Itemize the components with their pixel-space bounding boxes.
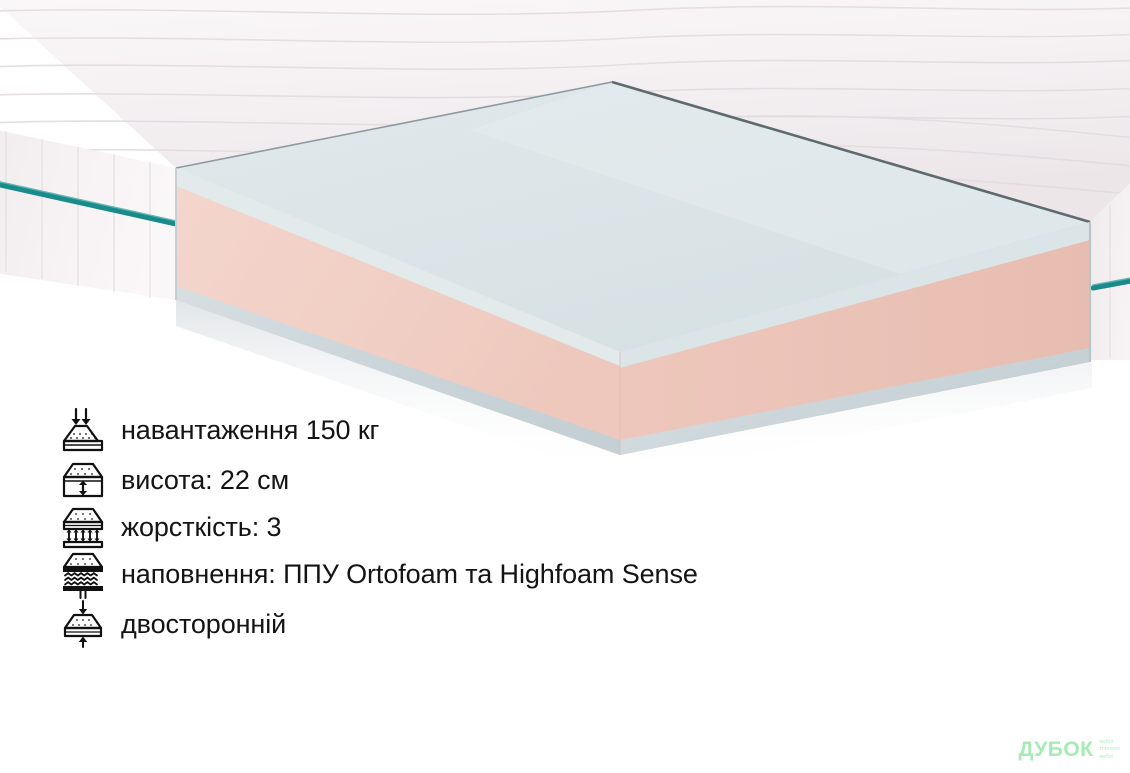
watermark: ДУБОК меблі торгівля меблі [1018,739,1120,762]
mattress-double-sided-icon [55,596,111,652]
watermark-brand: ДУБОК [1018,739,1093,760]
spec-row-firmness: жорсткість: 3 [55,504,955,550]
specification-list: навантаження 150 кг [55,404,955,650]
spec-row-double-sided: двосторонній [55,598,955,650]
watermark-tagline: меблі торгівля меблі [1100,739,1121,762]
spec-row-filling: наповнення: ППУ Ortofoam та Highfoam Sen… [55,550,955,598]
spec-row-height: висота: 22 см [55,456,955,504]
mattress-filling-layers-icon [55,546,111,602]
spec-label-filling: наповнення: ППУ Ortofoam та Highfoam Sen… [121,560,955,588]
spec-label-firmness: жорсткість: 3 [121,513,955,541]
spec-label-double-sided: двосторонній [121,610,955,638]
spec-label-load: навантаження 150 кг [121,416,955,444]
spec-label-height: висота: 22 см [121,466,955,494]
mattress-load-arrows-icon [55,402,111,458]
screenshot-root: навантаження 150 кг [0,0,1130,773]
spec-row-load: навантаження 150 кг [55,404,955,456]
